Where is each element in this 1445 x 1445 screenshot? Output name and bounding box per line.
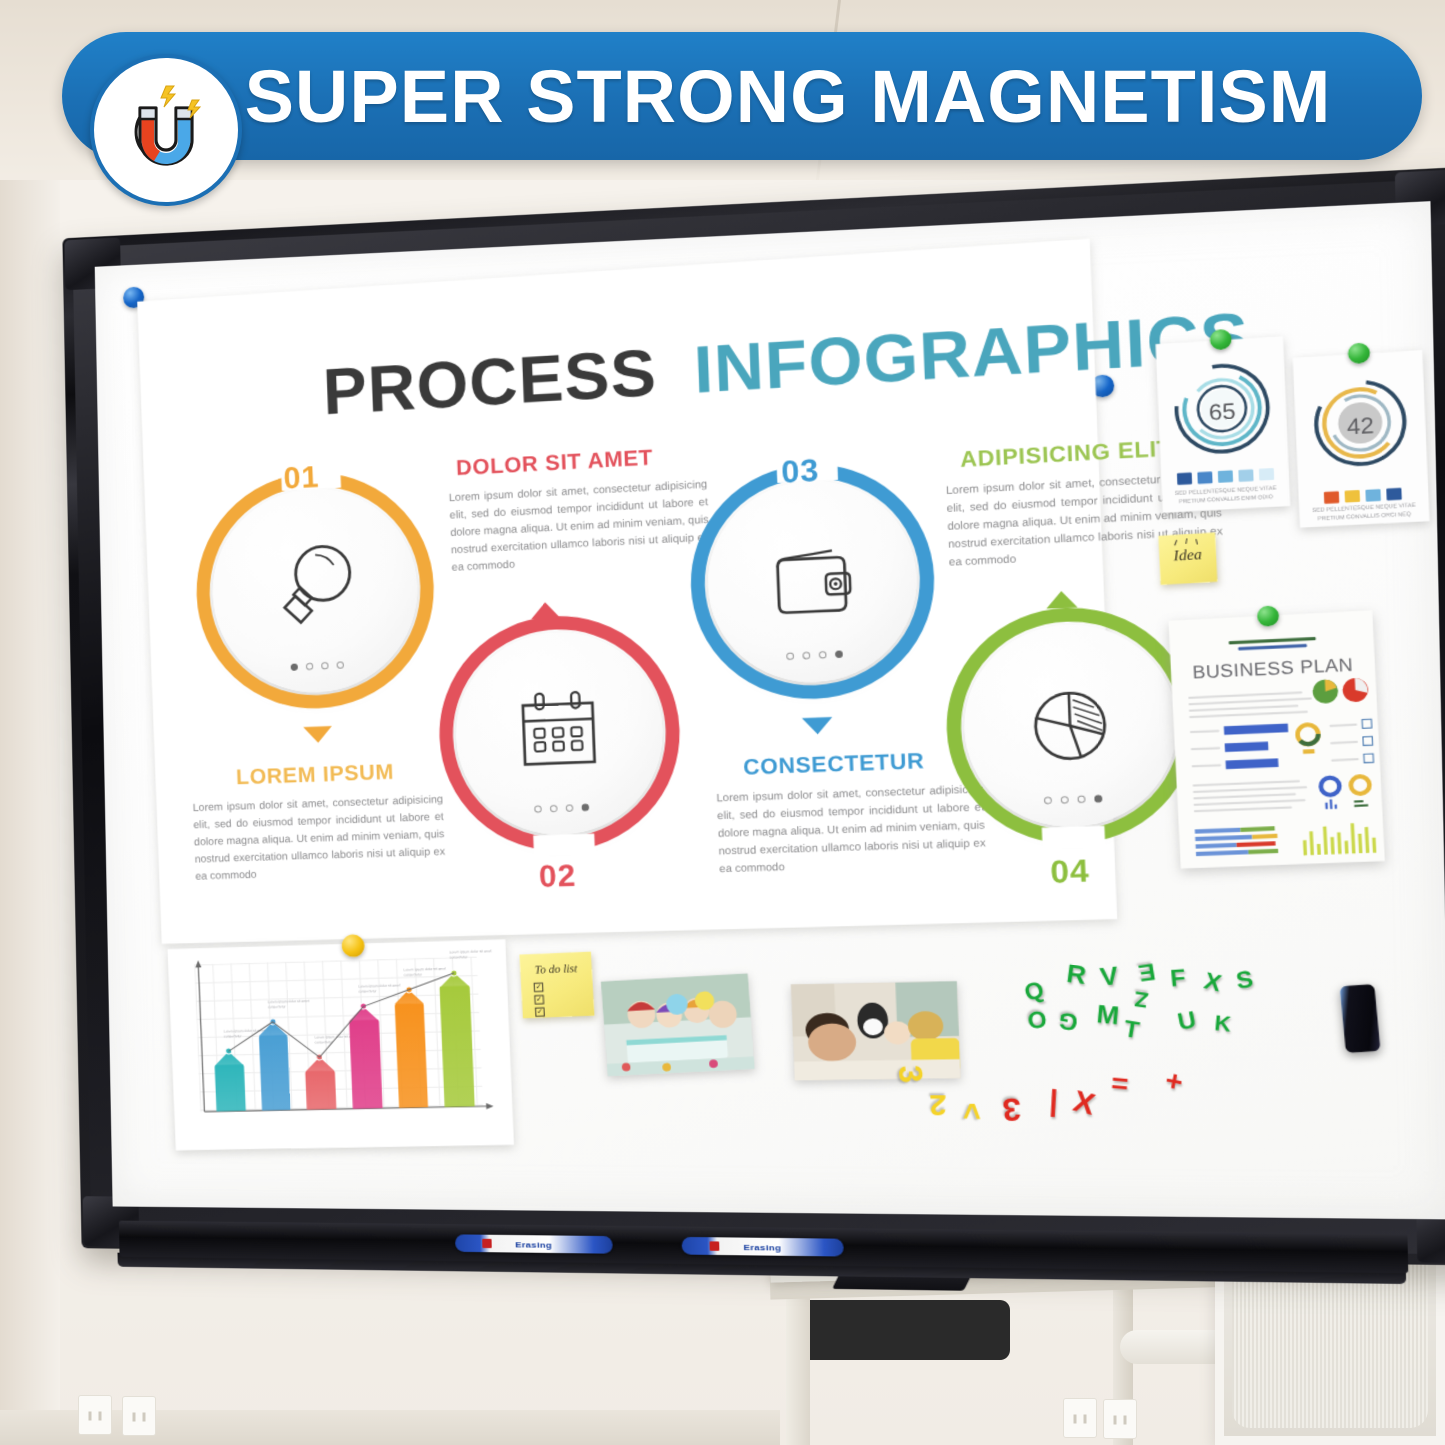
magnet-letter-red[interactable]: | (1048, 1086, 1058, 1116)
step-arrow-down-03 (802, 717, 833, 735)
step-arrow-up-02 (530, 602, 560, 620)
dashboard-card-65[interactable]: 65 SED PELLENTESQUE NEQUE VITAE PRETIUM … (1156, 336, 1291, 512)
marker-brand-dot (710, 1241, 720, 1250)
dashboard-legend (1324, 488, 1402, 504)
step-label-04: ADIPISICING ELIT (960, 436, 1173, 473)
magnet-letter-red[interactable]: + (1163, 1066, 1185, 1097)
magnet-letter-green[interactable]: S (1234, 967, 1255, 993)
step-arrow-up-04 (1046, 590, 1078, 608)
step-body-01: Lorem ipsum dolor sit amet, consectetur … (192, 791, 446, 885)
bp-pie-pair-icon (1311, 675, 1372, 706)
idea-sparkle-icon (1158, 535, 1215, 553)
bp-column-chart-icon (1299, 816, 1379, 858)
magnet-letter-green[interactable]: U (1176, 1008, 1199, 1034)
magnet-badge (90, 54, 242, 206)
dashboard-legend (1177, 468, 1274, 485)
bp-donut-icon (1292, 719, 1324, 768)
dry-erase-marker[interactable]: Erasing (682, 1237, 844, 1257)
chart-trendline (202, 957, 483, 1112)
horseshoe-magnet-icon (114, 78, 218, 182)
gauge-value-42: 42 (1346, 414, 1374, 441)
todo-checkbox[interactable]: ✓ (534, 983, 544, 993)
magnet-letter-green[interactable]: G (1057, 1008, 1080, 1034)
dashboard-card-42[interactable]: 42 SED PELLENTESQUE NEQUE VITAE PRETIUM … (1293, 350, 1430, 528)
step-circle-04[interactable] (960, 620, 1181, 830)
whiteboard-surface[interactable]: PROCESS INFOGRAPHICS (95, 201, 1445, 1219)
banner-title: SUPER STRONG MAGNETISM (62, 54, 1422, 139)
bp-mini-charts-icon (1313, 773, 1377, 814)
magnet-letter-green[interactable]: Z (1133, 987, 1149, 1010)
step-ring-02 (435, 611, 684, 855)
marker-label: Erasing (515, 1239, 552, 1249)
sticky-note-idea[interactable]: Idea (1158, 533, 1217, 585)
marker-label: Erasing (743, 1242, 781, 1252)
step-ring-03 (686, 458, 938, 703)
bar-chart-poster[interactable]: Lorem ipsum dolor sit amet consecteturLo… (167, 939, 514, 1150)
step-number-02: 02 (538, 859, 577, 895)
dashboard-caption: SED PELLENTESQUE NEQUE VITAE PRETIUM CON… (1308, 502, 1420, 524)
magnet-letter-green[interactable]: T (1122, 1017, 1141, 1043)
step-label-01: LOREM IPSUM (236, 760, 395, 790)
birthday-party-photo[interactable] (601, 973, 755, 1076)
green-round-magnet[interactable] (1348, 342, 1371, 364)
magnet-letter-green[interactable]: K (1213, 1013, 1231, 1036)
green-round-magnet[interactable] (1257, 605, 1280, 627)
sticky-note-todo-title: To do list (520, 962, 592, 977)
gauge-value-65: 65 (1208, 399, 1236, 426)
green-round-magnet[interactable] (1209, 329, 1231, 351)
step-body-02: Lorem ipsum dolor sit amet, consectetur … (449, 476, 711, 577)
step-circle-02[interactable] (452, 628, 666, 838)
poster-title: PROCESS INFOGRAPHICS (322, 297, 1252, 430)
process-infographics-poster[interactable]: PROCESS INFOGRAPHICS (137, 239, 1117, 944)
bp-rule-blue (1238, 644, 1307, 651)
magnet-letter-red[interactable]: = (1110, 1068, 1130, 1097)
step-label-03: CONSECTETUR (743, 749, 925, 781)
poster-title-process: PROCESS (322, 335, 659, 429)
magnet-letter-yellow[interactable]: 2 (929, 1090, 947, 1120)
family-with-cat-photo[interactable] (791, 981, 961, 1081)
magnet-letter-green[interactable]: X (1202, 969, 1224, 996)
step-number-03: 03 (781, 453, 821, 491)
ring-gap (533, 834, 595, 857)
step-ring-01 (192, 466, 438, 713)
business-plan-document[interactable]: BUSINESS PLAN (1168, 610, 1384, 868)
magnet-letter-green[interactable]: O (1027, 1007, 1047, 1031)
step-circle-01[interactable] (209, 484, 421, 697)
dry-erase-marker[interactable]: Erasing (455, 1234, 613, 1253)
magnet-letter-green[interactable]: R (1065, 962, 1088, 990)
step-number-01: 01 (283, 460, 320, 496)
step-circle-03[interactable] (704, 476, 920, 686)
magnet-letter-green[interactable]: V (1099, 964, 1120, 991)
ring-gap (1042, 826, 1106, 849)
step-label-02: DOLOR SIT AMET (456, 446, 654, 481)
magnet-letter-yellow[interactable]: < (956, 1102, 987, 1120)
magnet-letter-green[interactable]: F (1169, 966, 1186, 991)
whiteboard-eraser[interactable] (1340, 984, 1381, 1053)
todo-checkbox[interactable]: ✓ (534, 995, 544, 1005)
promo-banner: SUPER STRONG MAGNETISM (62, 32, 1422, 160)
step-body-03: Lorem ipsum dolor sit amet, consectetur … (716, 781, 987, 879)
dashboard-caption: SED PELLENTESQUE NEQUE VITAE PRETIUM CON… (1171, 485, 1281, 507)
sticky-note-todo[interactable]: To do list ✓ ✓ ✓ (519, 952, 594, 1019)
todo-checkbox[interactable]: ✓ (535, 1007, 545, 1017)
magnet-letter-yellow[interactable]: 3 (892, 1064, 926, 1084)
whiteboard-frame: PROCESS INFOGRAPHICS (62, 167, 1445, 1266)
magnet-letter-green[interactable]: M (1096, 1002, 1121, 1030)
magnet-letter-green[interactable]: E (1137, 959, 1157, 984)
magnet-letter-green[interactable]: Q (1022, 978, 1047, 1005)
magnet-letter-red[interactable]: X (1071, 1086, 1098, 1120)
step-number-04: 04 (1050, 854, 1091, 891)
whiteboard-assembly: PROCESS INFOGRAPHICS (0, 0, 1445, 1445)
magnet-letter-red[interactable]: 3 (1002, 1092, 1022, 1124)
marker-brand-dot (482, 1239, 492, 1248)
step-arrow-down-01 (303, 726, 332, 743)
